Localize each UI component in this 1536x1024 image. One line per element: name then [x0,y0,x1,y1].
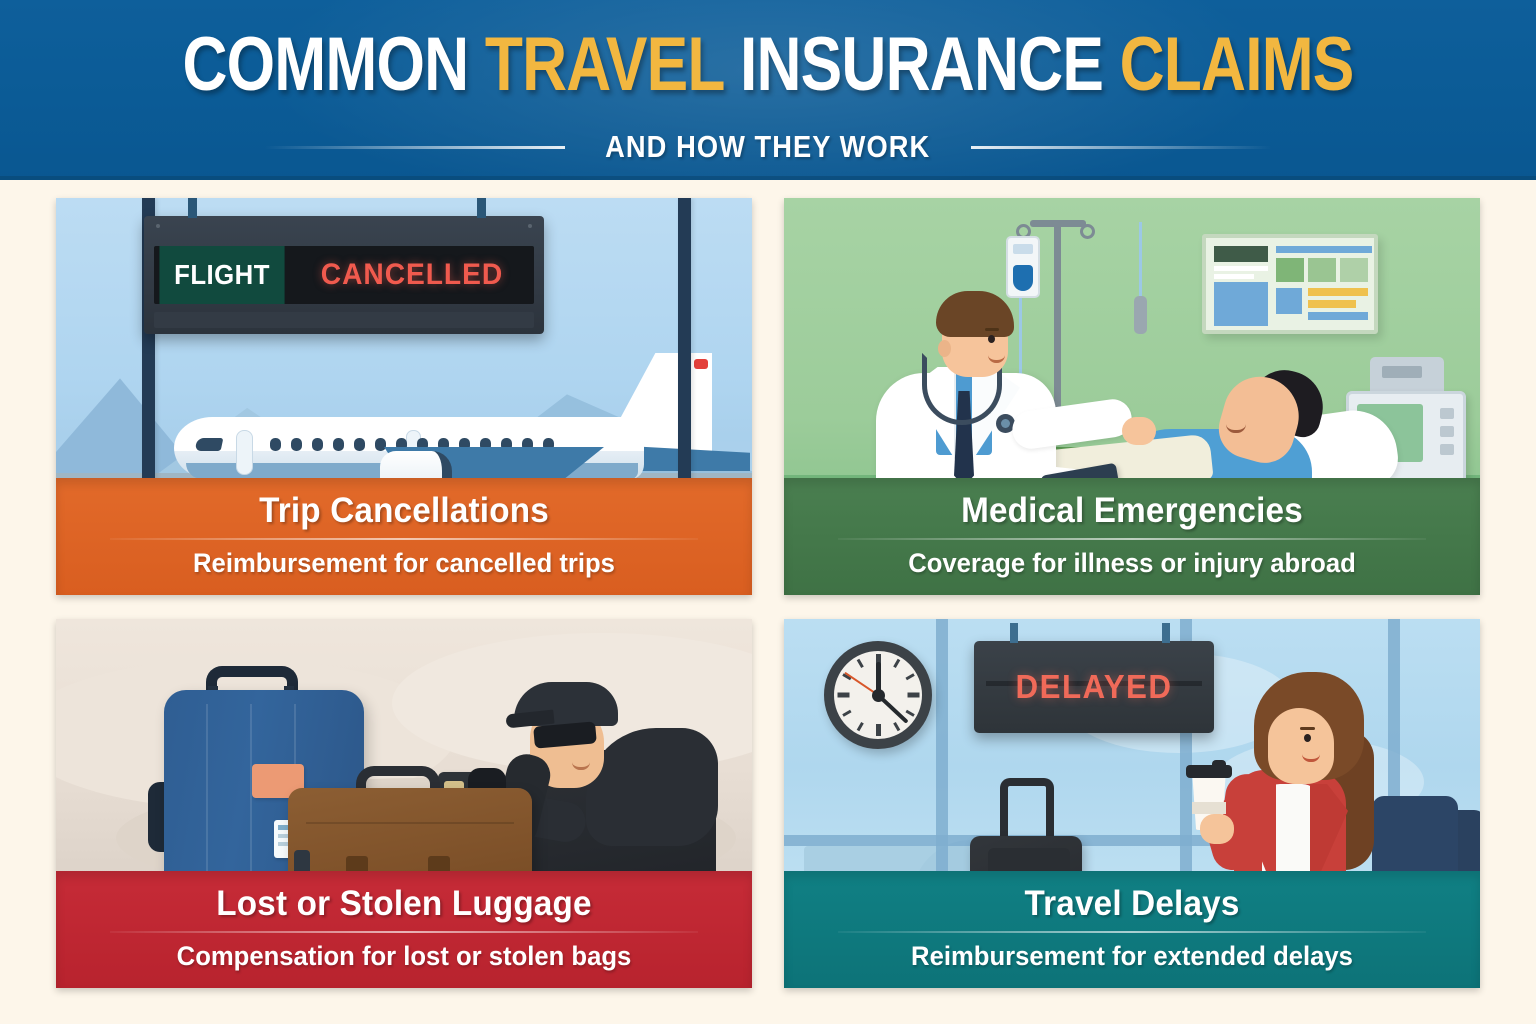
page-title: COMMON TRAVEL INSURANCE CLAIMS [138,22,1398,108]
caption-divider [110,538,698,540]
delayed-sign: DELAYED [974,641,1214,733]
board-hanger [188,198,197,218]
medical-device-top [1370,357,1444,391]
card-subtitle: Coverage for illness or injury abroad [815,548,1450,579]
iv-hook [1080,224,1095,239]
caption-divider [838,931,1426,933]
caption-medical-emergencies: Medical Emergencies Coverage for illness… [784,478,1480,595]
card-subtitle: Reimbursement for extended delays [815,941,1450,972]
wall-chart [1202,234,1378,334]
title-word-claims: CLAIMS [1120,22,1354,107]
suitcase-handle [1000,778,1054,840]
card-title: Travel Delays [815,884,1450,924]
card-title: Medical Emergencies [815,491,1450,531]
thief-hood [586,728,718,846]
departure-board: FLIGHT CANCELLED [144,216,544,334]
subtitle-rule-left [265,146,565,149]
wall-clock-icon [824,641,932,749]
board-status-text: CANCELLED [297,246,526,304]
doctor-hand [1122,417,1156,445]
page-subtitle: AND HOW THEY WORK [605,129,930,165]
card-title: Trip Cancellations [87,491,722,531]
card-medical-emergencies[interactable]: Medical Emergencies Coverage for illness… [784,198,1480,595]
board-flight-label: FLIGHT [159,246,284,304]
card-lost-or-stolen-luggage[interactable]: Lost or Stolen Luggage Compensation for … [56,619,752,988]
caption-divider [110,931,698,933]
subtitle-row: AND HOW THEY WORK [0,126,1536,168]
card-subtitle: Reimbursement for cancelled trips [87,548,722,579]
claims-grid: FLIGHT CANCELLED Trip Cancellations Reim… [56,198,1480,988]
page-header: COMMON TRAVEL INSURANCE CLAIMS AND HOW T… [0,0,1536,180]
title-word-travel: TRAVEL [485,22,724,107]
card-title: Lost or Stolen Luggage [87,884,722,924]
iv-clamp [1134,296,1147,334]
caption-divider [838,538,1426,540]
title-word-common: COMMON [182,22,468,107]
sign-hanger [1010,623,1018,643]
card-subtitle: Compensation for lost or stolen bags [87,941,722,972]
board-screen: FLIGHT CANCELLED [154,246,534,304]
doctor-hair [936,291,1014,337]
board-hanger [477,198,486,218]
sign-status-text: DELAYED [980,641,1208,733]
caption-lost-or-stolen-luggage: Lost or Stolen Luggage Compensation for … [56,871,752,988]
card-trip-cancellations[interactable]: FLIGHT CANCELLED Trip Cancellations Reim… [56,198,752,595]
card-travel-delays[interactable]: DELAYED [784,619,1480,988]
sign-hanger [1162,623,1170,643]
caption-travel-delays: Travel Delays Reimbursement for extended… [784,871,1480,988]
title-word-insurance: INSURANCE [740,22,1103,107]
subtitle-rule-right [971,146,1271,149]
iv-tube [1139,222,1142,300]
caption-trip-cancellations: Trip Cancellations Reimbursement for can… [56,478,752,595]
traveler-hand [1200,814,1234,844]
